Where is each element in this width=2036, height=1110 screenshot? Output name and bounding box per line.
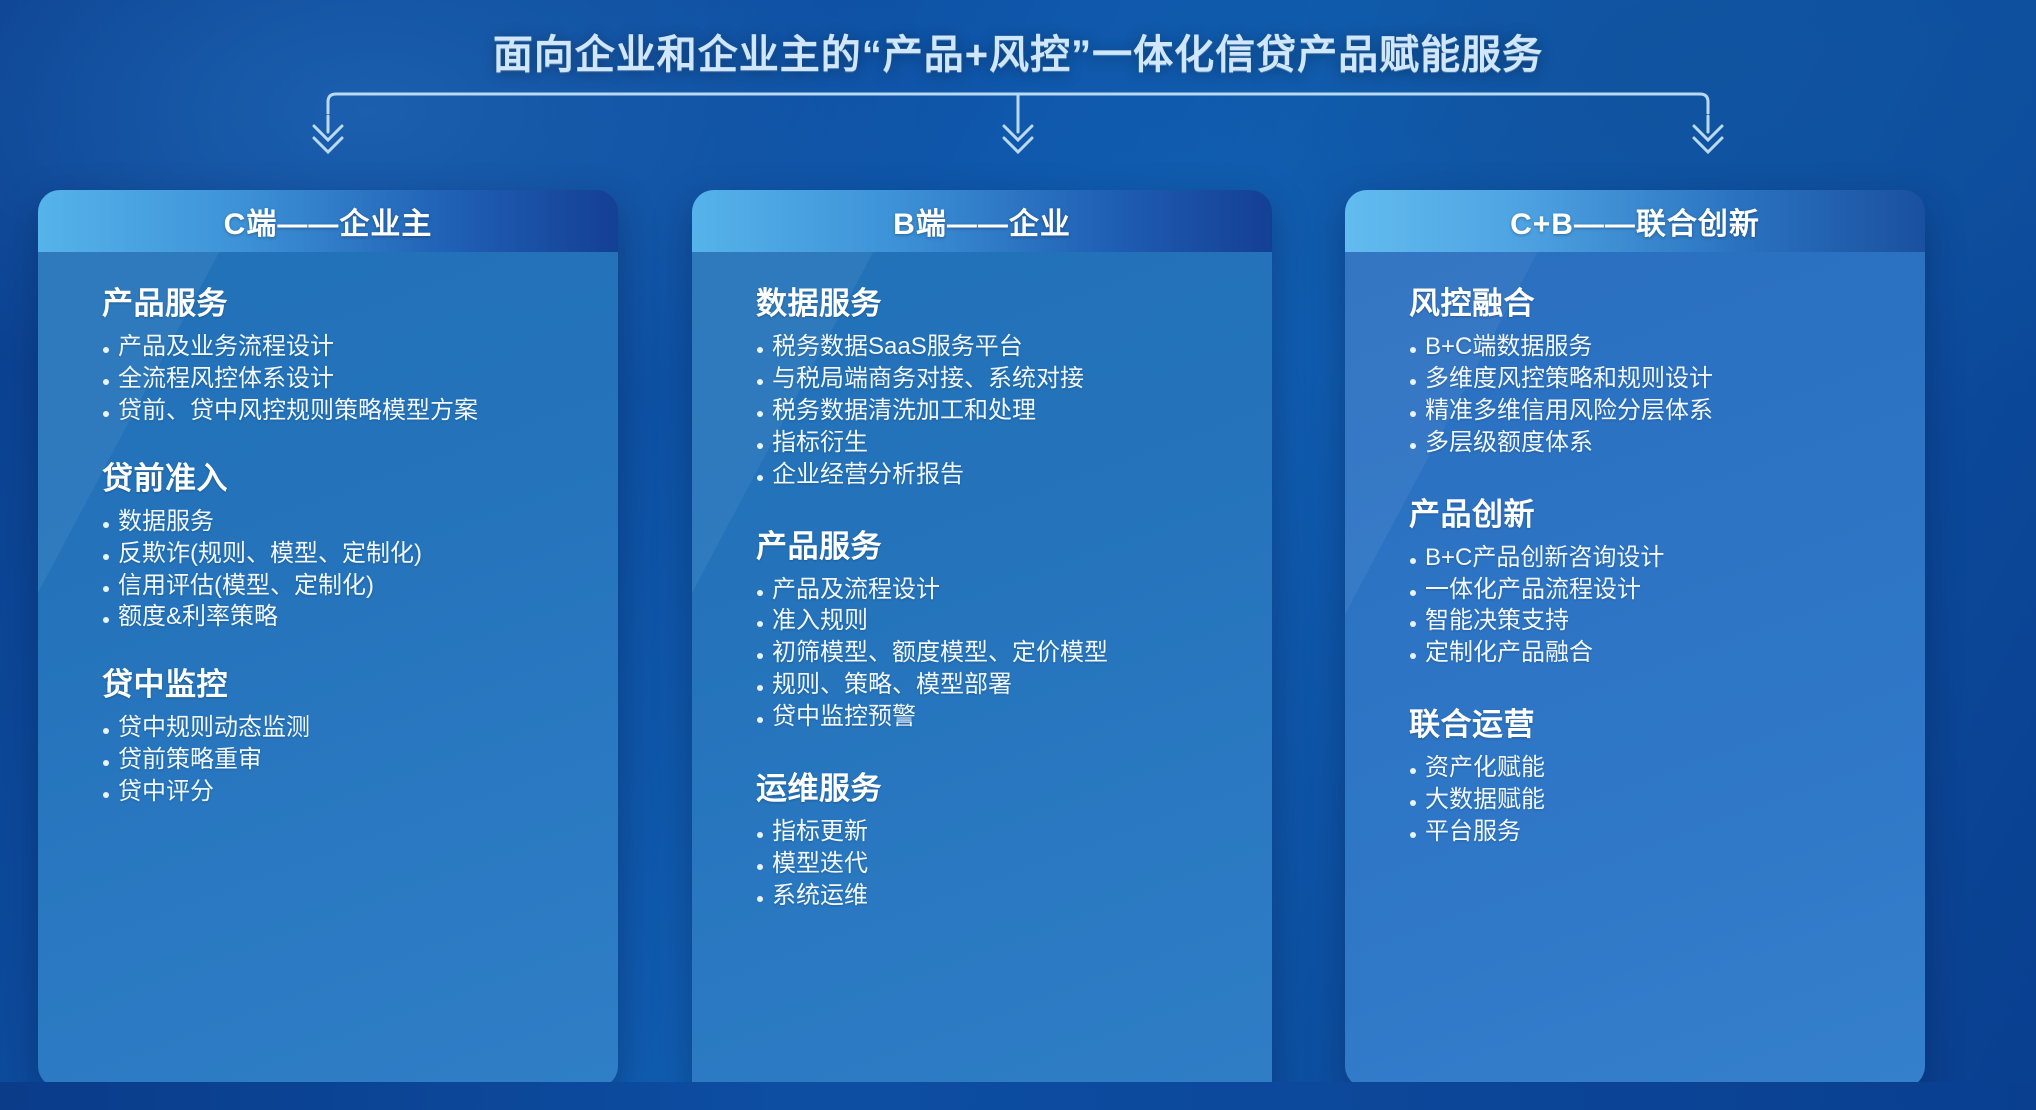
list-item: 指标衍生 — [756, 427, 1272, 459]
group-data-service: 数据服务 税务数据SaaS服务平台 与税局端商务对接、系统对接 税务数据清洗加工… — [692, 278, 1272, 491]
list-item: 与税局端商务对接、系统对接 — [756, 363, 1272, 395]
group-title: 风控融合 — [1409, 278, 1925, 323]
bottom-bar — [0, 1082, 2036, 1110]
list-item: 定制化产品融合 — [1409, 637, 1925, 669]
list-item: 贷前、贷中风控规则策略模型方案 — [102, 395, 618, 427]
list-item: 资产化赋能 — [1409, 752, 1925, 784]
bullet-list: B+C产品创新咨询设计 一体化产品流程设计 智能决策支持 定制化产品融合 — [1409, 542, 1925, 670]
group-risk-fusion: 风控融合 B+C端数据服务 多维度风控策略和规则设计 精准多维信用风险分层体系 … — [1345, 278, 1925, 459]
list-item: 系统运维 — [756, 880, 1272, 912]
group-title: 联合运营 — [1409, 699, 1925, 744]
group-in-loan-monitoring: 贷中监控 贷中规则动态监测 贷前策略重审 贷中评分 — [38, 659, 618, 808]
column-header-c-end: C端——企业主 — [38, 190, 618, 252]
list-item: 税务数据SaaS服务平台 — [756, 331, 1272, 363]
column-card-c-end[interactable]: C端——企业主 产品服务 产品及业务流程设计 全流程风控体系设计 贷前、贷中风控… — [38, 190, 618, 1088]
list-item: 大数据赋能 — [1409, 784, 1925, 816]
list-item: 信用评估(模型、定制化) — [102, 570, 618, 602]
group-pre-loan-access: 贷前准入 数据服务 反欺诈(规则、模型、定制化) 信用评估(模型、定制化) 额度… — [38, 453, 618, 634]
bullet-list: 数据服务 反欺诈(规则、模型、定制化) 信用评估(模型、定制化) 额度&利率策略 — [102, 506, 618, 634]
column-card-cb-joint[interactable]: C+B——联合创新 风控融合 B+C端数据服务 多维度风控策略和规则设计 精准多… — [1345, 190, 1925, 1088]
group-product-service: 产品服务 产品及流程设计 准入规则 初筛模型、额度模型、定价模型 规则、策略、模… — [692, 521, 1272, 734]
list-item: 反欺诈(规则、模型、定制化) — [102, 538, 618, 570]
chevron-down-icon — [314, 116, 342, 152]
list-item: 额度&利率策略 — [102, 601, 618, 633]
group-joint-operation: 联合运营 资产化赋能 大数据赋能 平台服务 — [1345, 699, 1925, 848]
list-item: 贷中评分 — [102, 776, 618, 808]
column-header-b-end: B端——企业 — [692, 190, 1272, 252]
group-title: 运维服务 — [756, 763, 1272, 808]
column-header-cb-joint: C+B——联合创新 — [1345, 190, 1925, 252]
bullet-list: 指标更新 模型迭代 系统运维 — [756, 816, 1272, 912]
list-item: 贷前策略重审 — [102, 744, 618, 776]
list-item: 智能决策支持 — [1409, 605, 1925, 637]
group-title: 产品服务 — [102, 278, 618, 323]
list-item: 模型迭代 — [756, 848, 1272, 880]
chevron-down-icon — [1694, 116, 1722, 152]
list-item: 数据服务 — [102, 506, 618, 538]
list-item: 准入规则 — [756, 605, 1272, 637]
list-item: B+C端数据服务 — [1409, 331, 1925, 363]
group-title: 贷前准入 — [102, 453, 618, 498]
bullet-list: 贷中规则动态监测 贷前策略重审 贷中评分 — [102, 712, 618, 808]
list-item: 指标更新 — [756, 816, 1272, 848]
list-item: B+C产品创新咨询设计 — [1409, 542, 1925, 574]
group-title: 贷中监控 — [102, 659, 618, 704]
bullet-list: 产品及业务流程设计 全流程风控体系设计 贷前、贷中风控规则策略模型方案 — [102, 331, 618, 427]
list-item: 多维度风控策略和规则设计 — [1409, 363, 1925, 395]
column-body-b-end: 数据服务 税务数据SaaS服务平台 与税局端商务对接、系统对接 税务数据清洗加工… — [692, 252, 1272, 1110]
list-item: 一体化产品流程设计 — [1409, 574, 1925, 606]
bullet-list: 产品及流程设计 准入规则 初筛模型、额度模型、定价模型 规则、策略、模型部署 贷… — [756, 574, 1272, 734]
list-item: 全流程风控体系设计 — [102, 363, 618, 395]
group-title: 数据服务 — [756, 278, 1272, 323]
list-item: 企业经营分析报告 — [756, 459, 1272, 491]
bullet-list: 税务数据SaaS服务平台 与税局端商务对接、系统对接 税务数据清洗加工和处理 指… — [756, 331, 1272, 491]
list-item: 规则、策略、模型部署 — [756, 669, 1272, 701]
group-product-service: 产品服务 产品及业务流程设计 全流程风控体系设计 贷前、贷中风控规则策略模型方案 — [38, 278, 618, 427]
list-item: 多层级额度体系 — [1409, 427, 1925, 459]
slide-canvas: 面向企业和企业主的“产品+风控”一体化信贷产品赋能服务 C端——企业主 产品服务 — [0, 0, 2036, 1110]
column-card-b-end[interactable]: B端——企业 数据服务 税务数据SaaS服务平台 与税局端商务对接、系统对接 税… — [692, 190, 1272, 1110]
column-body-cb-joint: 风控融合 B+C端数据服务 多维度风控策略和规则设计 精准多维信用风险分层体系 … — [1345, 252, 1925, 1088]
list-item: 产品及业务流程设计 — [102, 331, 618, 363]
chevron-down-icon — [1004, 116, 1032, 152]
group-product-innovation: 产品创新 B+C产品创新咨询设计 一体化产品流程设计 智能决策支持 定制化产品融… — [1345, 489, 1925, 670]
group-title: 产品创新 — [1409, 489, 1925, 534]
list-item: 税务数据清洗加工和处理 — [756, 395, 1272, 427]
bullet-list: 资产化赋能 大数据赋能 平台服务 — [1409, 752, 1925, 848]
list-item: 精准多维信用风险分层体系 — [1409, 395, 1925, 427]
list-item: 初筛模型、额度模型、定价模型 — [756, 637, 1272, 669]
list-item: 平台服务 — [1409, 816, 1925, 848]
page-title: 面向企业和企业主的“产品+风控”一体化信贷产品赋能服务 — [0, 22, 2036, 80]
bullet-list: B+C端数据服务 多维度风控策略和规则设计 精准多维信用风险分层体系 多层级额度… — [1409, 331, 1925, 459]
column-body-c-end: 产品服务 产品及业务流程设计 全流程风控体系设计 贷前、贷中风控规则策略模型方案… — [38, 252, 618, 1088]
group-ops-service: 运维服务 指标更新 模型迭代 系统运维 — [692, 763, 1272, 912]
list-item: 产品及流程设计 — [756, 574, 1272, 606]
list-item: 贷中规则动态监测 — [102, 712, 618, 744]
group-title: 产品服务 — [756, 521, 1272, 566]
connector-diagram — [0, 86, 2036, 156]
list-item: 贷中监控预警 — [756, 701, 1272, 733]
